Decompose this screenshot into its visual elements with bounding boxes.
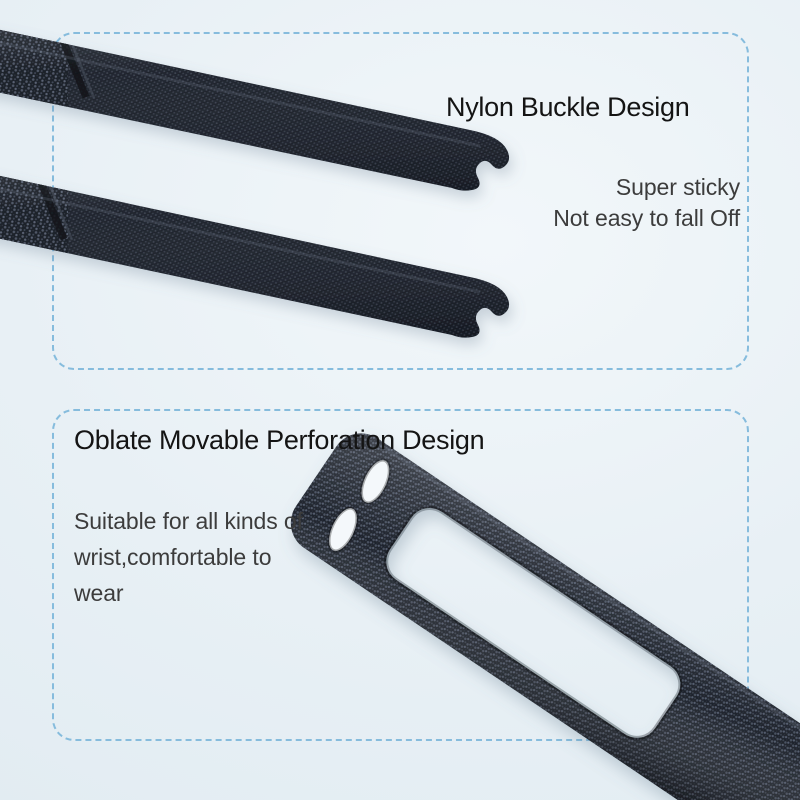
body-line: Suitable for all kinds of — [74, 503, 303, 539]
section-heading-nylon-buckle: Nylon Buckle Design — [446, 92, 689, 123]
body-line: Not easy to fall Off — [553, 203, 740, 234]
section-body-nylon-buckle: Super sticky Not easy to fall Off — [553, 172, 740, 234]
body-line: Super sticky — [553, 172, 740, 203]
body-line: wear — [74, 575, 303, 611]
oval-slot-upper — [350, 453, 401, 510]
section-heading-oblate-perforation: Oblate Movable Perforation Design — [74, 425, 484, 456]
strap-upper — [0, 0, 620, 260]
perforated-strap-head — [279, 422, 800, 800]
section-body-oblate-perforation: Suitable for all kinds of wrist,comforta… — [74, 503, 303, 611]
product-feature-infographic: Nylon Buckle Design Super sticky Not eas… — [0, 0, 800, 800]
strap-lower — [0, 140, 620, 400]
oval-slot-lower — [317, 501, 368, 558]
body-line: wrist,comfortable to — [74, 539, 303, 575]
